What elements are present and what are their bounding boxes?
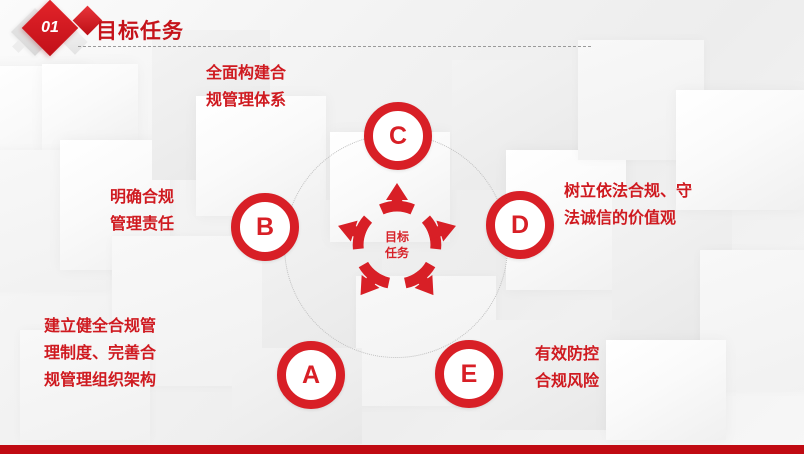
diagram-center-label: 目标 任务	[360, 208, 434, 282]
five-arrow-ring-icon: 目标 任务	[332, 180, 462, 310]
caption-node-D: 树立依法合规、守 法诚信的价值观	[564, 178, 692, 232]
radial-diagram: 目标 任务 C B D A E	[228, 88, 568, 418]
footer-bar	[0, 445, 804, 454]
bg-tile	[42, 64, 138, 152]
diagram-node-C[interactable]: C	[364, 102, 432, 170]
diagram-node-D[interactable]: D	[486, 191, 554, 259]
section-number: 01	[30, 8, 70, 48]
slide-canvas: 01 目标任务 全面构建合 规管理体系 明确合规 管理责任 建立健全合规管 理制…	[0, 0, 804, 454]
diagram-node-A[interactable]: A	[277, 341, 345, 409]
bg-tile	[606, 340, 726, 440]
page-title: 目标任务	[96, 15, 184, 45]
header-divider	[78, 46, 591, 47]
center-label-line1: 目标	[385, 229, 409, 245]
diagram-node-E[interactable]: E	[435, 340, 503, 408]
center-label-line2: 任务	[385, 245, 409, 261]
caption-node-A: 建立健全合规管 理制度、完善合 规管理组织架构	[44, 313, 156, 394]
slide-header: 01 目标任务	[0, 0, 804, 60]
bg-tile	[676, 90, 804, 210]
caption-node-B: 明确合规 管理责任	[110, 184, 174, 238]
diagram-node-B[interactable]: B	[231, 193, 299, 261]
